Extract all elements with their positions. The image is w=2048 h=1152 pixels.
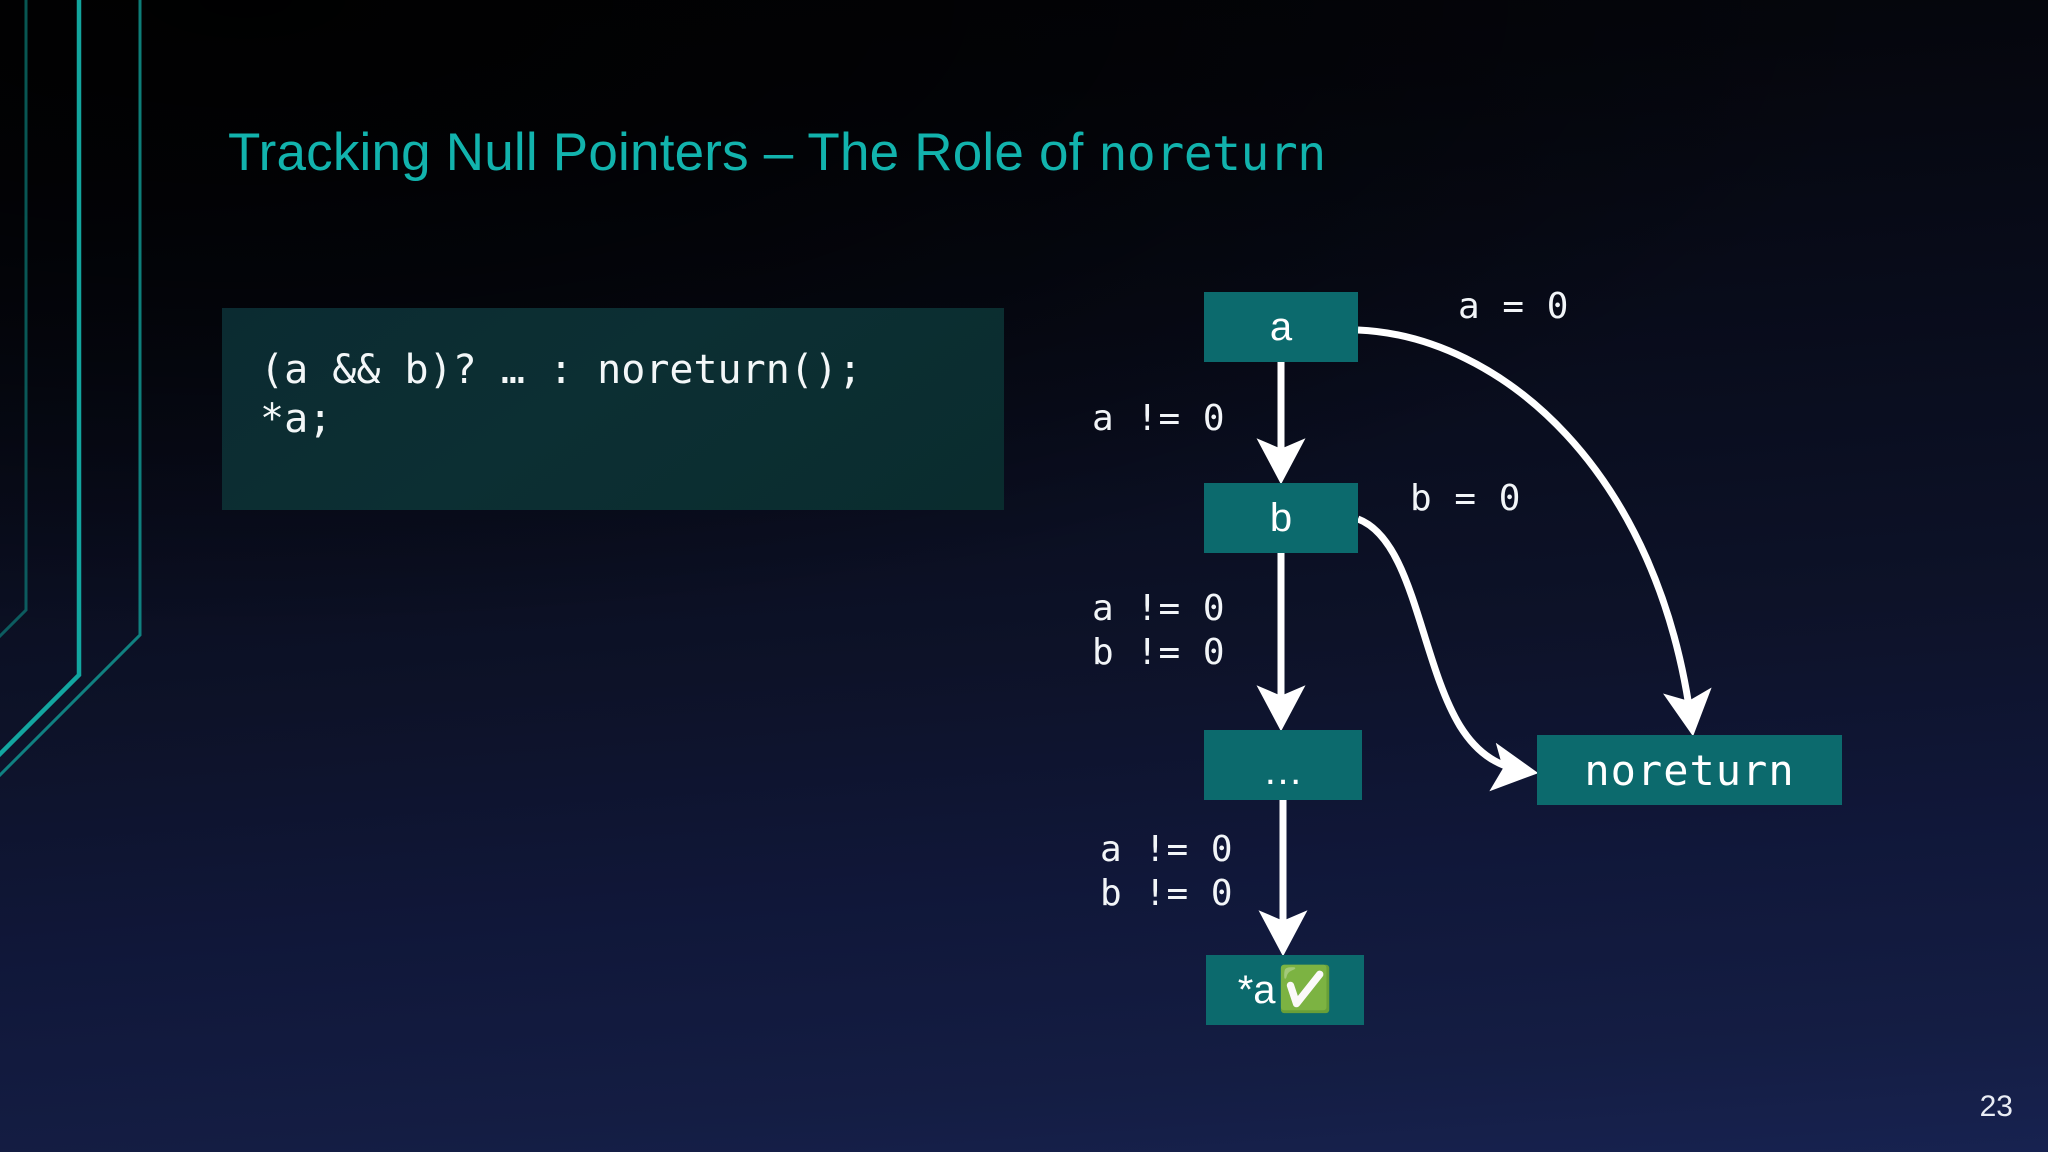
slide-title-mono-term: noreturn — [1099, 126, 1326, 182]
node-ellipsis: … — [1204, 730, 1362, 800]
node-ellipsis-label: … — [1263, 749, 1303, 794]
edge-label-ab-not-zero-upper: a != 0 b != 0 — [1092, 587, 1225, 675]
node-deref-a-label: *a — [1238, 968, 1276, 1013]
node-noreturn-label: noreturn — [1584, 746, 1794, 795]
page-number: 23 — [1980, 1090, 2013, 1124]
edge-label-ab-not-zero-lower: a != 0 b != 0 — [1100, 828, 1233, 916]
slide-canvas: Tracking Null Pointers – The Role of nor… — [0, 0, 2048, 1152]
edge-label-a-not-zero: a != 0 — [1092, 397, 1225, 441]
code-block: (a && b)? … : noreturn(); *a; — [222, 308, 1004, 510]
edge-label-b-equals-zero: b = 0 — [1410, 477, 1521, 521]
node-deref-a: *a ✅ — [1206, 955, 1364, 1025]
node-b-label: b — [1270, 496, 1292, 541]
node-a-label: a — [1270, 305, 1292, 350]
edge-label-a-equals-zero: a = 0 — [1458, 285, 1569, 329]
node-b: b — [1204, 483, 1358, 553]
check-mark-icon: ✅ — [1278, 968, 1333, 1012]
node-noreturn: noreturn — [1537, 735, 1842, 805]
slide-title: Tracking Null Pointers – The Role of nor… — [228, 126, 1326, 179]
code-block-text: (a && b)? … : noreturn(); *a; — [260, 346, 1004, 444]
edge-b-to-noreturn — [1358, 519, 1530, 772]
edge-a-to-noreturn — [1358, 330, 1692, 728]
slide-title-prefix: Tracking Null Pointers – The Role of — [228, 123, 1099, 182]
node-a: a — [1204, 292, 1358, 362]
